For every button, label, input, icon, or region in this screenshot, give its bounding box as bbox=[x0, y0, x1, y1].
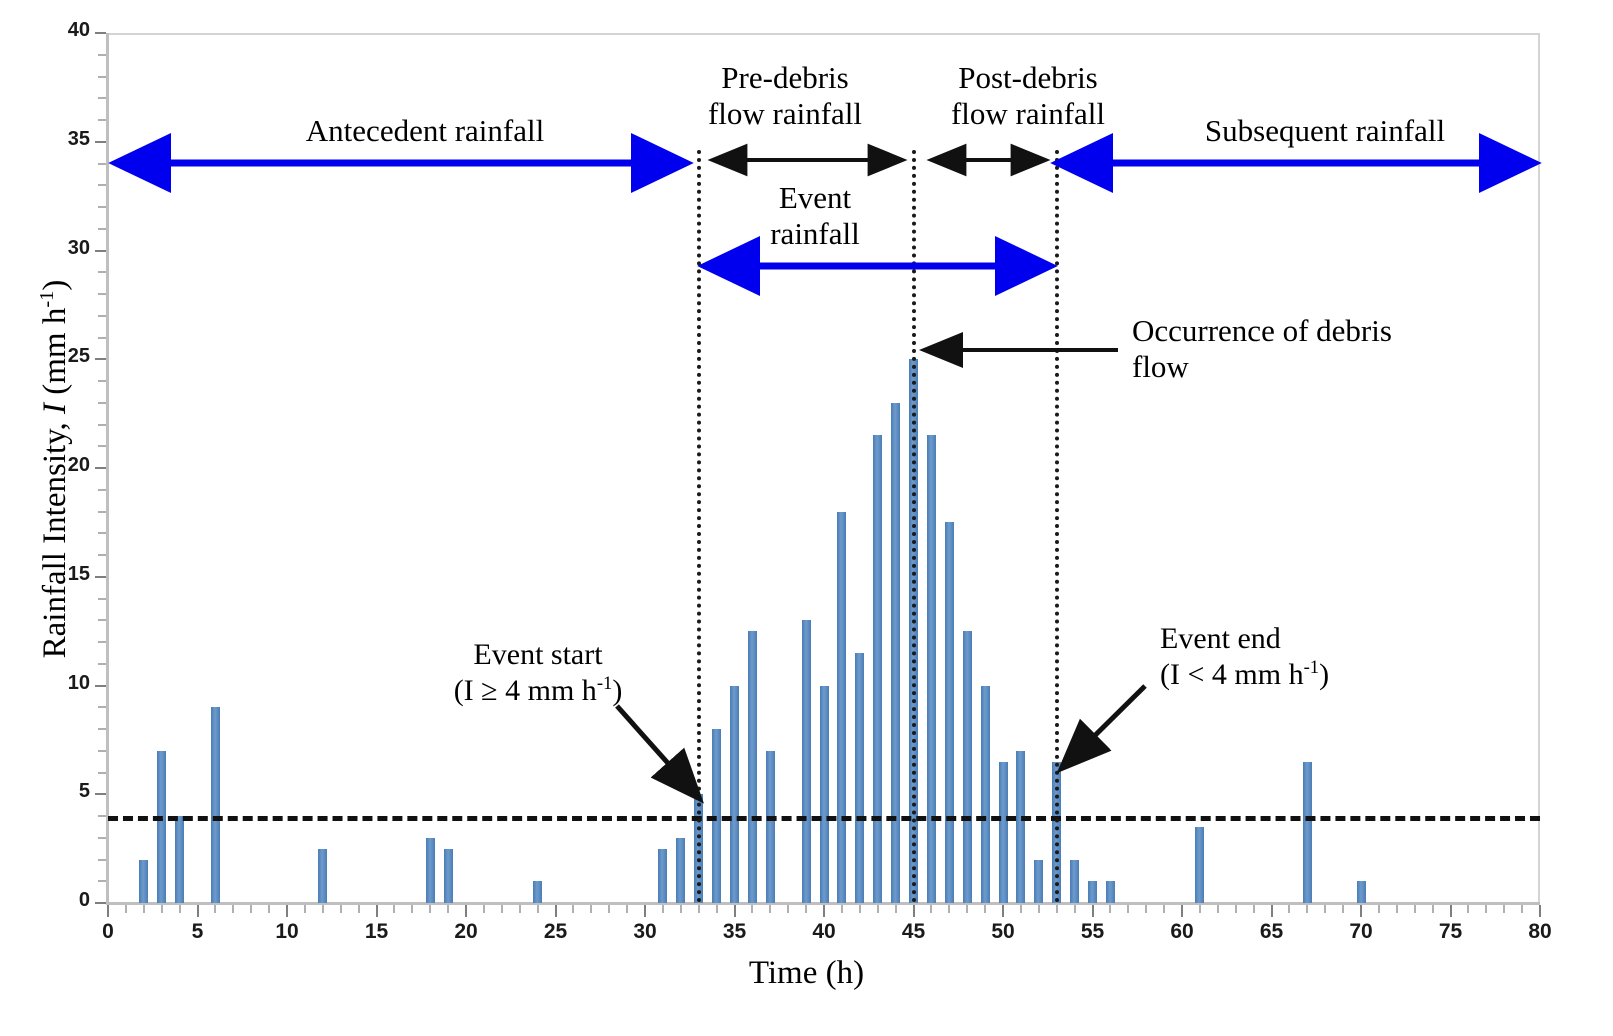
y-tick-minor bbox=[98, 706, 106, 708]
x-tick-minor bbox=[1199, 905, 1201, 913]
bar bbox=[1088, 881, 1097, 903]
x-tick-major bbox=[376, 905, 378, 917]
x-tick-label: 30 bbox=[615, 920, 675, 944]
x-tick-minor bbox=[393, 905, 395, 913]
x-tick-minor bbox=[268, 905, 270, 913]
y-tick-minor bbox=[98, 424, 106, 426]
x-tick-minor bbox=[1324, 905, 1326, 913]
x-tick-minor bbox=[1109, 905, 1111, 913]
x-tick-minor bbox=[1378, 905, 1380, 913]
bar bbox=[999, 762, 1008, 903]
bar bbox=[945, 522, 954, 903]
x-tick-minor bbox=[984, 905, 986, 913]
label-antecedent-rainfall: Antecedent rainfall bbox=[250, 113, 600, 149]
y-tick-major bbox=[95, 358, 106, 360]
x-tick-minor bbox=[447, 905, 449, 913]
label-post-debris-line2: flow rainfall bbox=[918, 96, 1138, 132]
y-tick-minor bbox=[98, 119, 106, 121]
x-tick-minor bbox=[680, 905, 682, 913]
y-tick-minor bbox=[98, 271, 106, 273]
x-tick-minor bbox=[232, 905, 234, 913]
y-tick-minor bbox=[98, 880, 106, 882]
y-tick-minor bbox=[98, 511, 106, 513]
event-end-condition-exponent: -1 bbox=[1304, 657, 1320, 678]
bar bbox=[426, 838, 435, 903]
bar bbox=[837, 512, 846, 904]
x-tick-major bbox=[465, 905, 467, 917]
label-event-start-line1: Event start bbox=[388, 638, 688, 673]
vline-event-start bbox=[697, 150, 701, 903]
x-tick-minor bbox=[1253, 905, 1255, 913]
bar bbox=[891, 403, 900, 903]
x-tick-label: 20 bbox=[436, 920, 496, 944]
label-event-rainfall-line1: Event bbox=[705, 180, 925, 216]
y-axis-title-exponent: -1 bbox=[36, 291, 58, 308]
y-tick-label: 40 bbox=[30, 19, 90, 42]
x-tick-major bbox=[555, 905, 557, 917]
y-tick-minor bbox=[98, 76, 106, 78]
x-tick-minor bbox=[859, 905, 861, 913]
x-tick-minor bbox=[716, 905, 718, 913]
x-tick-minor bbox=[1217, 905, 1219, 913]
x-tick-minor bbox=[143, 905, 145, 913]
x-tick-minor bbox=[590, 905, 592, 913]
y-tick-major bbox=[95, 141, 106, 143]
x-tick-major bbox=[1539, 905, 1541, 917]
x-axis-title: Time (h) bbox=[0, 955, 1613, 992]
y-tick-minor bbox=[98, 859, 106, 861]
y-tick-minor bbox=[98, 315, 106, 317]
bar bbox=[676, 838, 685, 903]
bar bbox=[855, 653, 864, 903]
bar bbox=[1357, 881, 1366, 903]
x-tick-major bbox=[1181, 905, 1183, 917]
event-start-condition-close: ) bbox=[612, 674, 622, 707]
x-tick-major bbox=[1450, 905, 1452, 917]
x-tick-label: 35 bbox=[705, 920, 765, 944]
y-tick-minor bbox=[98, 554, 106, 556]
y-tick-minor bbox=[98, 641, 106, 643]
x-tick-minor bbox=[1127, 905, 1129, 913]
bar bbox=[658, 849, 667, 903]
x-tick-label: 15 bbox=[347, 920, 407, 944]
y-tick-minor bbox=[98, 337, 106, 339]
y-tick-minor bbox=[98, 97, 106, 99]
y-tick-minor bbox=[98, 54, 106, 56]
y-tick-minor bbox=[98, 184, 106, 186]
x-tick-major bbox=[644, 905, 646, 917]
y-tick-minor bbox=[98, 663, 106, 665]
y-tick-minor bbox=[98, 163, 106, 165]
x-tick-major bbox=[734, 905, 736, 917]
bar bbox=[820, 686, 829, 904]
label-post-debris-line1: Post-debris bbox=[918, 60, 1138, 96]
x-tick-major bbox=[197, 905, 199, 917]
x-tick-minor bbox=[501, 905, 503, 913]
x-tick-minor bbox=[626, 905, 628, 913]
x-tick-minor bbox=[411, 905, 413, 913]
bar bbox=[444, 849, 453, 903]
bar bbox=[1034, 860, 1043, 904]
bar bbox=[802, 620, 811, 903]
x-tick-label: 45 bbox=[884, 920, 944, 944]
bar bbox=[873, 435, 882, 903]
x-tick-minor bbox=[1467, 905, 1469, 913]
bar bbox=[1016, 751, 1025, 903]
label-post-debris-flow-rainfall: Post-debris flow rainfall bbox=[918, 60, 1138, 131]
x-tick-minor bbox=[1020, 905, 1022, 913]
vline-debris-flow-occurrence bbox=[912, 150, 916, 903]
bar bbox=[927, 435, 936, 903]
y-tick-major bbox=[95, 793, 106, 795]
x-tick-minor bbox=[751, 905, 753, 913]
label-pre-debris-line2: flow rainfall bbox=[675, 96, 895, 132]
y-tick-minor bbox=[98, 380, 106, 382]
bar bbox=[211, 707, 220, 903]
x-tick-minor bbox=[1145, 905, 1147, 913]
y-tick-minor bbox=[98, 206, 106, 208]
x-tick-minor bbox=[966, 905, 968, 913]
label-debris-flow-line1: Occurrence of debris bbox=[1132, 313, 1462, 349]
y-tick-minor bbox=[98, 532, 106, 534]
x-tick-label: 40 bbox=[794, 920, 854, 944]
plot-border-right bbox=[1538, 33, 1540, 905]
y-tick-major bbox=[95, 250, 106, 252]
x-tick-label: 75 bbox=[1421, 920, 1481, 944]
x-tick-minor bbox=[1288, 905, 1290, 913]
x-tick-label: 70 bbox=[1331, 920, 1391, 944]
y-tick-label: 5 bbox=[30, 780, 90, 803]
x-tick-label: 5 bbox=[168, 920, 228, 944]
x-tick-major bbox=[1271, 905, 1273, 917]
bar bbox=[1070, 860, 1079, 904]
bar bbox=[175, 816, 184, 903]
x-tick-minor bbox=[698, 905, 700, 913]
x-tick-minor bbox=[1074, 905, 1076, 913]
event-end-condition-prefix: (I < 4 mm h bbox=[1160, 658, 1304, 691]
bar bbox=[1303, 762, 1312, 903]
x-tick-minor bbox=[1342, 905, 1344, 913]
bar bbox=[730, 686, 739, 904]
y-tick-minor bbox=[98, 815, 106, 817]
event-start-condition-prefix: (I ≥ 4 mm h bbox=[454, 674, 597, 707]
x-tick-minor bbox=[769, 905, 771, 913]
x-tick-minor bbox=[358, 905, 360, 913]
x-tick-minor bbox=[930, 905, 932, 913]
x-tick-minor bbox=[1235, 905, 1237, 913]
x-tick-label: 25 bbox=[526, 920, 586, 944]
x-tick-minor bbox=[250, 905, 252, 913]
x-tick-minor bbox=[179, 905, 181, 913]
x-tick-label: 10 bbox=[257, 920, 317, 944]
x-tick-major bbox=[1360, 905, 1362, 917]
x-tick-minor bbox=[1396, 905, 1398, 913]
label-event-end-line2: (I < 4 mm h-1) bbox=[1160, 657, 1460, 693]
x-tick-major bbox=[913, 905, 915, 917]
x-tick-minor bbox=[1306, 905, 1308, 913]
vline-event-end bbox=[1055, 150, 1059, 903]
bar bbox=[766, 751, 775, 903]
x-tick-minor bbox=[1414, 905, 1416, 913]
y-tick-minor bbox=[98, 619, 106, 621]
y-tick-major bbox=[95, 902, 106, 904]
label-subsequent-rainfall: Subsequent rainfall bbox=[1145, 113, 1505, 149]
x-tick-minor bbox=[340, 905, 342, 913]
arrow-event-start bbox=[617, 706, 699, 798]
label-pre-debris-line1: Pre-debris bbox=[675, 60, 895, 96]
event-end-condition-close: ) bbox=[1319, 658, 1329, 691]
y-tick-minor bbox=[98, 837, 106, 839]
x-tick-minor bbox=[1503, 905, 1505, 913]
y-tick-major bbox=[95, 32, 106, 34]
x-tick-minor bbox=[662, 905, 664, 913]
y-axis-title-close: ) bbox=[37, 280, 73, 291]
y-tick-minor bbox=[98, 598, 106, 600]
x-tick-minor bbox=[304, 905, 306, 913]
label-occurrence-of-debris-flow: Occurrence of debris flow bbox=[1132, 313, 1462, 384]
x-tick-minor bbox=[483, 905, 485, 913]
x-tick-minor bbox=[1485, 905, 1487, 913]
x-tick-label: 55 bbox=[1063, 920, 1123, 944]
x-tick-minor bbox=[1038, 905, 1040, 913]
y-tick-major bbox=[95, 576, 106, 578]
x-tick-minor bbox=[1056, 905, 1058, 913]
label-event-rainfall: Event rainfall bbox=[705, 180, 925, 251]
x-tick-major bbox=[107, 905, 109, 917]
x-tick-major bbox=[1002, 905, 1004, 917]
x-tick-major bbox=[823, 905, 825, 917]
label-pre-debris-flow-rainfall: Pre-debris flow rainfall bbox=[675, 60, 895, 131]
x-tick-minor bbox=[1521, 905, 1523, 913]
x-tick-minor bbox=[895, 905, 897, 913]
bar bbox=[748, 631, 757, 903]
bar bbox=[318, 849, 327, 903]
y-tick-label: 35 bbox=[30, 128, 90, 151]
label-debris-flow-line2: flow bbox=[1132, 349, 1462, 385]
x-tick-major bbox=[286, 905, 288, 917]
y-axis-title: Rainfall Intensity, I (mm h-1) bbox=[36, 209, 74, 729]
rainfall-intensity-figure: 0510152025303540051015202530354045505560… bbox=[0, 0, 1613, 1036]
y-axis-title-suffix: (mm h bbox=[37, 308, 73, 403]
y-axis-line bbox=[106, 33, 109, 905]
label-event-end: Event end (I < 4 mm h-1) bbox=[1160, 622, 1460, 692]
y-tick-minor bbox=[98, 750, 106, 752]
x-tick-label: 50 bbox=[973, 920, 1033, 944]
x-tick-minor bbox=[429, 905, 431, 913]
x-tick-minor bbox=[214, 905, 216, 913]
y-axis-title-prefix: Rainfall Intensity, bbox=[37, 414, 73, 658]
x-tick-label: 65 bbox=[1242, 920, 1302, 944]
x-tick-minor bbox=[787, 905, 789, 913]
y-tick-minor bbox=[98, 293, 106, 295]
bar bbox=[981, 686, 990, 904]
bar bbox=[963, 631, 972, 903]
x-tick-label: 60 bbox=[1152, 920, 1212, 944]
x-tick-major bbox=[1092, 905, 1094, 917]
bar bbox=[139, 860, 148, 904]
label-event-end-line1: Event end bbox=[1160, 622, 1460, 657]
y-tick-label: 0 bbox=[30, 889, 90, 912]
y-tick-minor bbox=[98, 489, 106, 491]
y-tick-minor bbox=[98, 402, 106, 404]
x-tick-minor bbox=[948, 905, 950, 913]
bar bbox=[157, 751, 166, 903]
x-tick-minor bbox=[519, 905, 521, 913]
x-tick-minor bbox=[537, 905, 539, 913]
x-tick-minor bbox=[322, 905, 324, 913]
x-tick-label: 80 bbox=[1510, 920, 1570, 944]
y-tick-major bbox=[95, 467, 106, 469]
bar bbox=[533, 881, 542, 903]
arrow-event-end bbox=[1062, 686, 1145, 768]
x-tick-minor bbox=[841, 905, 843, 913]
x-tick-label: 0 bbox=[78, 920, 138, 944]
x-tick-minor bbox=[608, 905, 610, 913]
bar bbox=[1106, 881, 1115, 903]
x-tick-minor bbox=[1432, 905, 1434, 913]
y-axis-title-symbol: I bbox=[37, 403, 73, 414]
x-tick-minor bbox=[161, 905, 163, 913]
label-event-rainfall-line2: rainfall bbox=[705, 216, 925, 252]
plot-border-top bbox=[108, 33, 1540, 35]
y-tick-minor bbox=[98, 445, 106, 447]
x-tick-minor bbox=[572, 905, 574, 913]
x-tick-minor bbox=[1163, 905, 1165, 913]
x-tick-minor bbox=[805, 905, 807, 913]
x-tick-minor bbox=[877, 905, 879, 913]
x-tick-minor bbox=[125, 905, 127, 913]
event-start-condition-exponent: -1 bbox=[597, 673, 613, 694]
label-event-start: Event start (I ≥ 4 mm h-1) bbox=[388, 638, 688, 708]
bar bbox=[1195, 827, 1204, 903]
label-event-start-line2: (I ≥ 4 mm h-1) bbox=[388, 673, 688, 709]
y-tick-minor bbox=[98, 228, 106, 230]
intensity-threshold-line bbox=[108, 816, 1540, 821]
y-tick-minor bbox=[98, 728, 106, 730]
y-tick-major bbox=[95, 685, 106, 687]
y-tick-minor bbox=[98, 772, 106, 774]
